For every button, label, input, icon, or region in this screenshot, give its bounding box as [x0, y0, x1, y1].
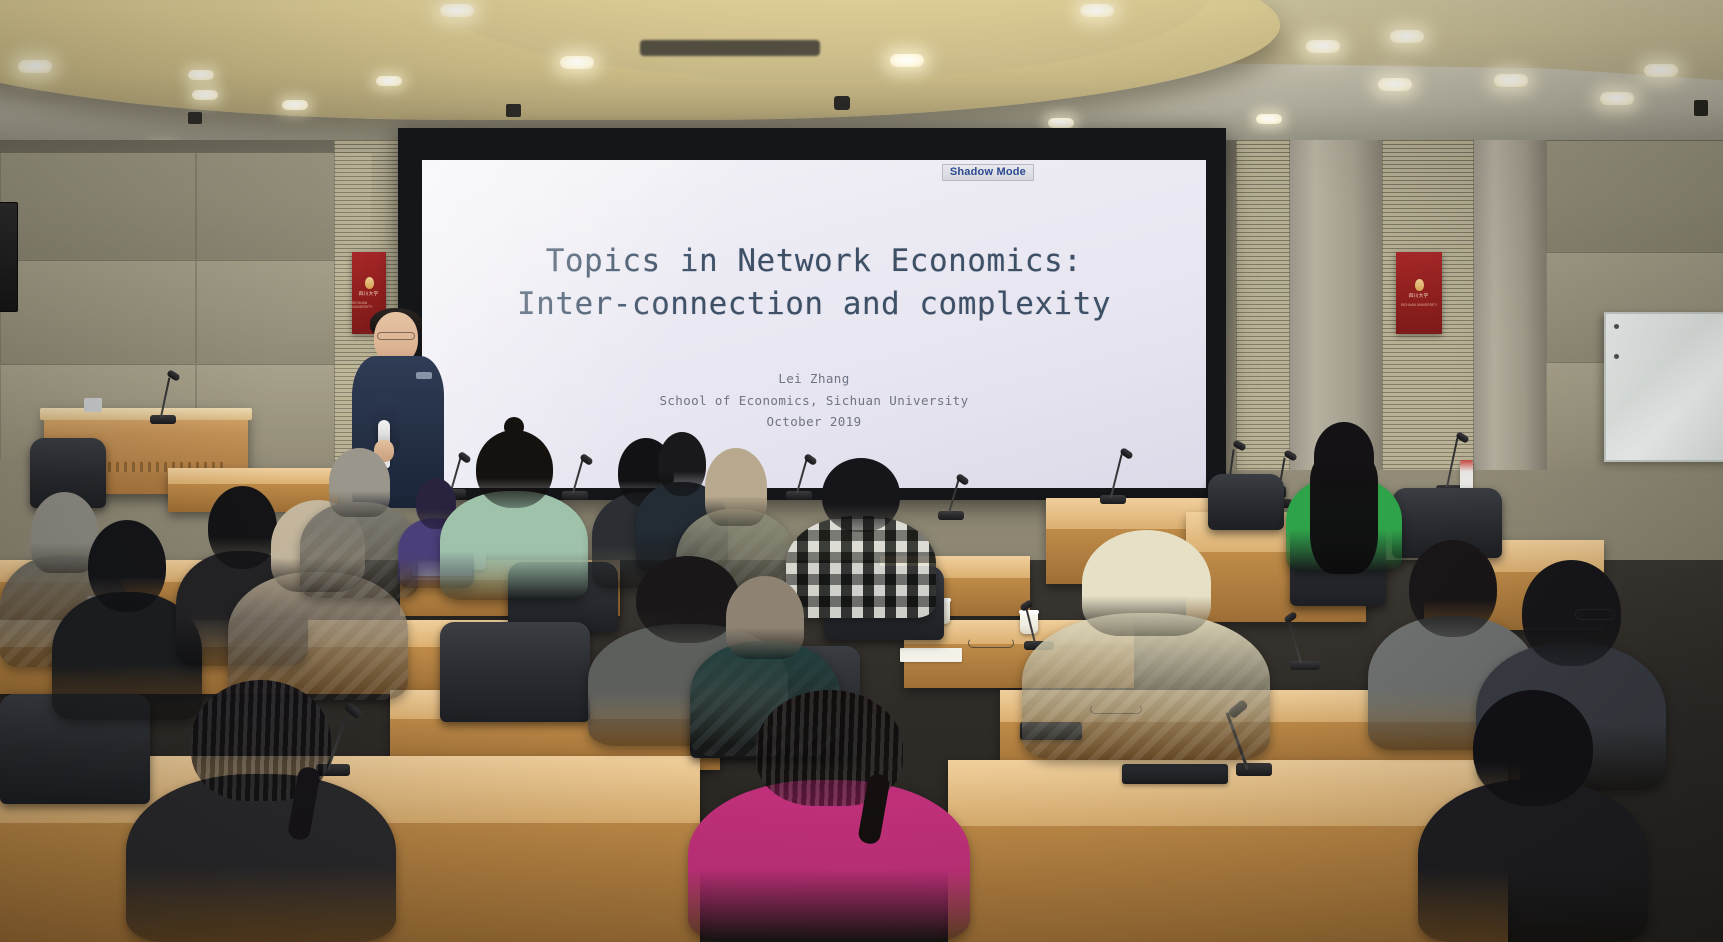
banner-subtext: SICHUAN UNIVERSITY: [1401, 303, 1438, 307]
ceiling-light: [18, 60, 52, 73]
slide-byline: Lei Zhang School of Economics, Sichuan U…: [422, 368, 1206, 433]
wall-banner-right: 四川大学 SICHUAN UNIVERSITY: [1396, 252, 1442, 334]
notebook: [900, 648, 962, 662]
slide-title-line2: Inter-connection and complexity: [422, 283, 1206, 326]
ceiling-light: [282, 100, 308, 110]
attendee-head: [726, 576, 804, 659]
ceiling-vent: [640, 40, 820, 56]
presenter-glasses-icon: [377, 332, 415, 340]
ceiling-light: [1080, 4, 1114, 17]
ceiling-light: [560, 56, 594, 69]
ceiling-light: [188, 70, 214, 80]
attendee-foreground-left: [126, 680, 396, 942]
microphone-neck: [1110, 454, 1123, 497]
microphone-base: [1100, 495, 1126, 504]
podium-device: [84, 398, 102, 412]
wall-ribbed-panel: [1236, 140, 1290, 470]
attendee-head: [88, 520, 166, 612]
banner-text: 四川大学: [1409, 294, 1429, 300]
ceiling-light: [1378, 78, 1412, 91]
attendee-glasses-icon: [1575, 609, 1615, 620]
gooseneck-microphone: [1100, 452, 1130, 504]
ceiling-light: [1644, 64, 1678, 77]
banner-subtext: SICHUAN UNIVERSITY: [352, 301, 386, 309]
gooseneck-microphone: [150, 374, 180, 424]
attendee-head: [822, 458, 900, 532]
ceiling-light: [1494, 74, 1528, 87]
attendee-cream-hijab-right: [1022, 530, 1270, 760]
chair: [1208, 474, 1284, 530]
microphone-neck: [948, 478, 960, 513]
wall-panel: [0, 152, 196, 260]
ceiling-light: [1048, 118, 1074, 128]
whiteboard: [1604, 312, 1723, 462]
ceiling-light: [1390, 30, 1424, 43]
ceiling-light: [890, 54, 924, 67]
attendee-mint-hoodie: [440, 430, 588, 600]
attendee-head: [329, 448, 390, 517]
wall-panel: [1546, 140, 1723, 252]
ceiling-light: [1600, 92, 1634, 105]
slide-author: Lei Zhang: [422, 368, 1206, 390]
whiteboard-fixing-dot: [1614, 354, 1619, 359]
ceiling-camera-icon: [506, 104, 521, 117]
attendee-pink-top-foreground: [688, 690, 970, 942]
shadow-mode-badge[interactable]: Shadow Mode: [942, 164, 1034, 181]
ceiling-camera-icon: [188, 112, 202, 124]
banner-text: 四川大学: [359, 292, 379, 298]
microphone-neck: [160, 378, 170, 418]
ceiling-light: [1306, 40, 1340, 53]
wall-panel: [0, 260, 196, 364]
microphone-base: [150, 415, 176, 424]
tablet-device: [1122, 764, 1228, 784]
microphone-base: [1236, 763, 1272, 776]
wall-pillar: [1290, 140, 1382, 470]
slide-title: Topics in Network Economics: Inter-conne…: [422, 240, 1206, 326]
lecture-hall-photo: 四川大学 SICHUAN UNIVERSITY 四川大学 SICHUAN UNI…: [0, 0, 1723, 942]
ceiling-light: [1256, 114, 1282, 124]
whiteboard-fixing-dot: [1614, 324, 1619, 329]
attendee-head: [476, 430, 553, 508]
microphone-base: [1290, 661, 1320, 670]
microphone-neck: [1287, 619, 1302, 664]
chair: [440, 622, 590, 722]
lectern-top: [40, 408, 252, 420]
attendee-foreground-right: [1418, 690, 1648, 942]
presenter-jacket-logo: [416, 372, 432, 379]
banner-emblem-icon: [1415, 279, 1424, 291]
slide-title-line1: Topics in Network Economics:: [422, 240, 1206, 283]
attendee-head: [705, 448, 767, 526]
attendee-head: [1082, 530, 1211, 636]
gooseneck-microphone: [938, 474, 968, 520]
attendee-hair-bun: [504, 417, 524, 437]
ceiling-camera-icon: [1694, 100, 1708, 116]
wall-speaker-left: [0, 202, 18, 312]
microphone-neck: [1446, 438, 1458, 487]
ceiling-light: [376, 76, 402, 86]
ceiling-camera-icon: [834, 96, 850, 110]
gooseneck-microphone: [1290, 614, 1326, 670]
eyeglasses: [968, 638, 1014, 648]
banner-emblem-icon: [365, 277, 374, 289]
wall-pillar: [1474, 140, 1546, 470]
attendee-head: [1473, 690, 1593, 806]
ceiling-light: [192, 90, 218, 100]
ceiling-light: [440, 4, 474, 17]
slide-affiliation: School of Economics, Sichuan University: [422, 390, 1206, 412]
microphone-base: [938, 511, 964, 520]
